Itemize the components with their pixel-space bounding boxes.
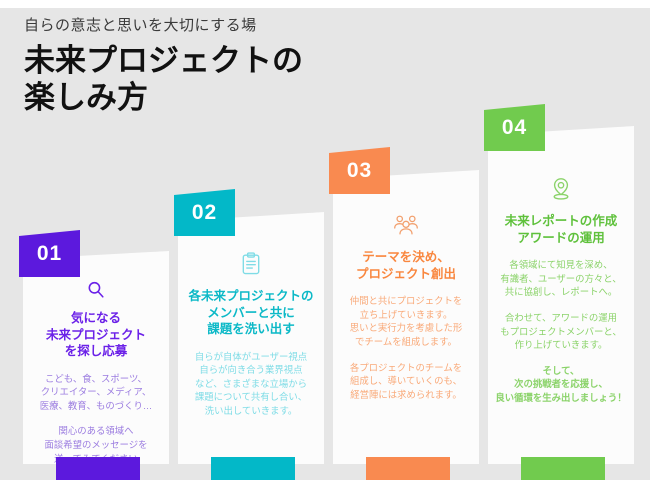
step-number-02: 02 bbox=[192, 201, 217, 225]
clipboard-icon bbox=[240, 249, 262, 279]
step-number-badge-02: 02 bbox=[174, 189, 235, 236]
step-title-02: 各未来プロジェクトの メンバーと共に 課題を洗い出す bbox=[188, 288, 313, 338]
slide-canvas: 自らの意志と思いを大切にする場 未来プロジェクトの 楽しみ方 気になる 未来プロ… bbox=[0, 8, 650, 480]
step-number-badge-04: 04 bbox=[484, 104, 545, 151]
step-footer-bar-03 bbox=[366, 457, 450, 480]
step-body-04-b: 合わせて、アワードの運用 もプロジェクトメンバーと、 作り上げていきます。 bbox=[500, 311, 622, 352]
magnifier-icon bbox=[85, 279, 107, 301]
step-title-03: テーマを決め、 プロジェクト創出 bbox=[356, 249, 456, 282]
steps-container: 気になる 未来プロジェクト を探し応募 こども、食、スポーツ、 クリエイター、メ… bbox=[0, 8, 650, 480]
team-icon bbox=[393, 210, 419, 240]
step-body-03-b: 各プロジェクトのチームを 組成し、導いていくのも、 経営陣には求められます。 bbox=[350, 361, 462, 402]
step-number-badge-01: 01 bbox=[19, 230, 80, 277]
step-body-01-a: こども、食、スポーツ、 クリエイター、メディア、 医療、教育、ものづくり… bbox=[40, 372, 153, 413]
step-footer-bar-02 bbox=[211, 457, 295, 480]
step-title-04: 未来レポートの作成 アワードの運用 bbox=[505, 213, 618, 246]
step-card-02[interactable]: 各未来プロジェクトの メンバーと共に 課題を洗い出す 自らが自体がユーザー視点 … bbox=[178, 212, 324, 464]
step-card-01[interactable]: 気になる 未来プロジェクト を探し応募 こども、食、スポーツ、 クリエイター、メ… bbox=[23, 251, 169, 464]
step-number-03: 03 bbox=[347, 159, 372, 183]
step-footer-bar-04 bbox=[521, 457, 605, 480]
step-body-03-a: 仲間と共にプロジェクトを 立ち上げていきます。 思いと実行力を考慮した形 でチー… bbox=[350, 294, 463, 349]
step-card-03[interactable]: テーマを決め、 プロジェクト創出 仲間と共にプロジェクトを 立ち上げていきます。… bbox=[333, 170, 479, 464]
step-body-04-c: そして、 次の挑戦者を応援し、 良い循環を生み出しましょう！ bbox=[495, 364, 626, 405]
step-number-04: 04 bbox=[502, 116, 527, 140]
step-title-01: 気になる 未来プロジェクト を探し応募 bbox=[46, 310, 146, 360]
step-body-04-a: 各領域にて知見を深め、 有識者、ユーザーの方々と、 共に協創し、レポートへ。 bbox=[500, 258, 621, 299]
step-number-01: 01 bbox=[37, 242, 62, 266]
location-pin-icon bbox=[550, 174, 572, 204]
step-card-04[interactable]: 未来レポートの作成 アワードの運用 各領域にて知見を深め、 有識者、ユーザーの方… bbox=[488, 126, 634, 464]
step-body-02-a: 自らが自体がユーザー視点 自らが向き合う業界視点 など、さまざまな立場から 課題… bbox=[195, 350, 307, 418]
step-footer-bar-01 bbox=[56, 457, 140, 480]
step-number-badge-03: 03 bbox=[329, 147, 390, 194]
